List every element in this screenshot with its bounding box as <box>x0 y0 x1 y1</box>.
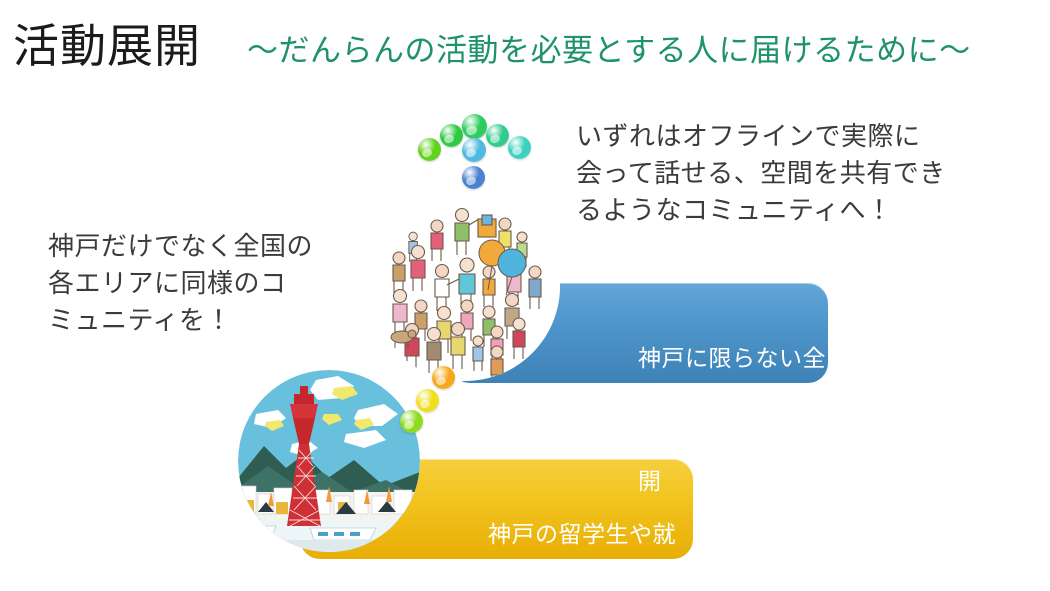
kobe-port-tower-image <box>238 370 420 552</box>
bubble-lower-2-icon <box>400 410 423 433</box>
slide-header: 活動展開 〜だんらんの活動を必要とする人に届けるために〜 <box>0 0 1050 95</box>
bubble-upper-3-icon <box>486 124 509 147</box>
page-title: 活動展開 <box>13 17 201 75</box>
bubble-upper-0-icon <box>418 138 441 161</box>
page-subtitle: 〜だんらんの活動を必要とする人に届けるために〜 <box>247 30 971 72</box>
crowd-of-people-image <box>370 191 560 381</box>
bubble-upper-4-icon <box>508 136 531 159</box>
text-nationwide-community: 神戸だけでなく全国の 各エリアに同様のコ ミュニティを！ <box>48 228 368 339</box>
bubble-upper-5-icon <box>462 138 486 162</box>
slide-canvas: 活動展開 〜だんらんの活動を必要とする人に届けるために〜 神戸に限らない全国各地… <box>0 0 1050 591</box>
crowd-illustration-svg <box>370 191 560 381</box>
kobe-illustration-svg <box>238 370 420 552</box>
bubble-upper-2-icon <box>462 114 487 139</box>
banner-kobe-outreach-text: 神戸の留学生や就労性へ の呼びかけ <box>488 514 693 591</box>
bubble-upper-6-icon <box>462 166 485 189</box>
banner-nationwide-support-text: 神戸に限らない全国各地 域へのサポート展開 <box>638 338 828 502</box>
bubble-lower-0-icon <box>432 366 455 389</box>
bubble-upper-1-icon <box>440 124 463 147</box>
bubble-lower-1-icon <box>416 389 439 412</box>
text-offline-community: いずれはオフラインで実際に 会って話せる、空間を共有でき るようなコミュニティへ… <box>576 118 996 229</box>
